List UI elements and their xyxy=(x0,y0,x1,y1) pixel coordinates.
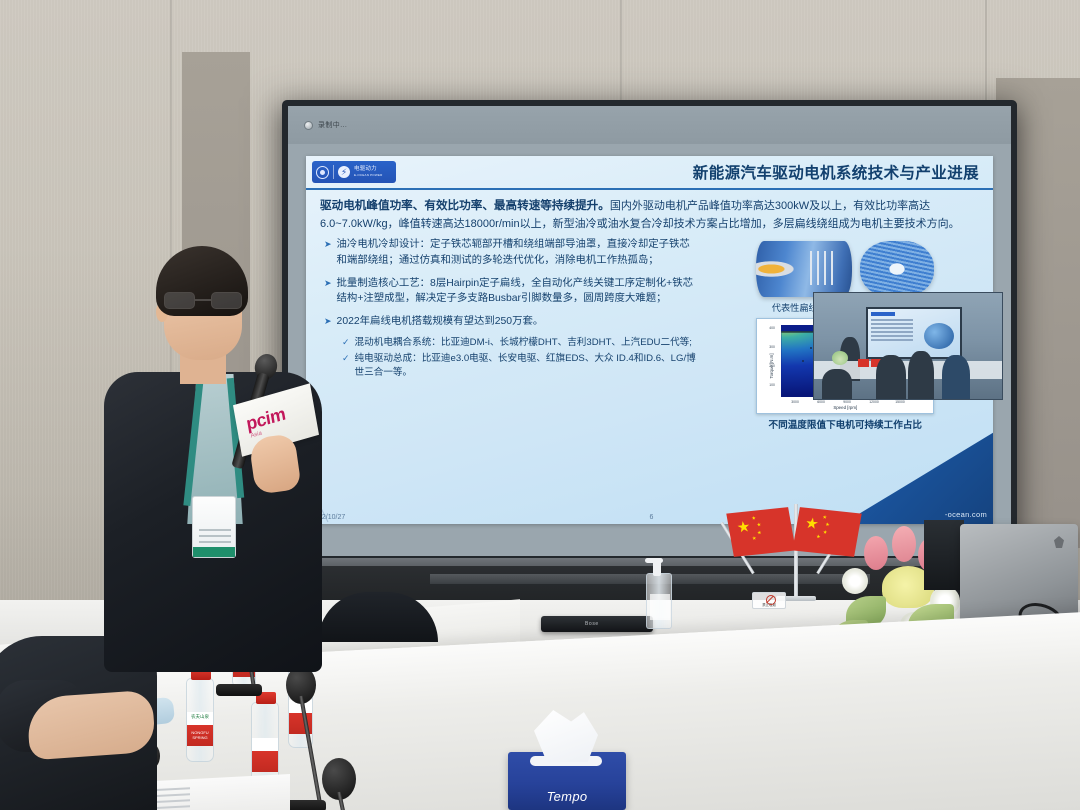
flag-star-icon: ★ xyxy=(757,531,762,536)
slide-lead-paragraph: 驱动电机峰值功率、有效比功率、最高转速等持续提升。国内外驱动电机产品峰值功率高达… xyxy=(320,197,979,232)
no-smoking-sign: 禁止吸烟 xyxy=(752,592,786,609)
institute-seal-logo xyxy=(316,166,329,179)
check-icon: ✓ xyxy=(342,336,350,350)
chart-x-tick: 15000 xyxy=(895,400,904,404)
chart-x-axis-label: Speed [rpm] xyxy=(757,405,933,410)
soundbar-brand-label: Bose xyxy=(585,621,599,627)
chart-y-tick: 200 xyxy=(769,364,775,368)
bottle-label: 农夫山泉 NONGFU SPRING xyxy=(187,712,213,746)
oil-cooled-motor-cutaway-image xyxy=(756,241,852,297)
hairpin-winding-image xyxy=(860,241,934,297)
sub-bullet-list: ✓ 混动机电耦合系统：比亚迪DM-i、长城柠檬DHT、吉利3DHT、上汽EDU二… xyxy=(342,336,698,380)
bullet-item: ➤ 油冷电机冷却设计：定子铁芯轭部开槽和绕组端部导油罩，直接冷却定子铁芯和端部绕… xyxy=(324,237,698,268)
presenter: pcim Asia xyxy=(96,246,326,666)
flag-left: ★ ★ ★ ★ ★ xyxy=(726,507,795,557)
bullet-text: 批量制造核心工艺：8层Hairpin定子扁线，全自动化产线关键工序定制化+铁芯结… xyxy=(337,276,698,307)
picture-in-picture-room-feed[interactable] xyxy=(813,292,1003,400)
side-monitor xyxy=(924,520,964,590)
sub-bullet-text: 混动机电耦合系统：比亚迪DM-i、长城柠檬DHT、吉利3DHT、上汽EDU二代等… xyxy=(355,336,692,350)
pip-flag xyxy=(858,359,869,367)
lightning-bolt-icon: ⚡ xyxy=(338,166,350,178)
pip-slide-header xyxy=(871,312,895,316)
sub-bullet-text: 纯电驱动总成：比亚迪e3.0电驱、长安电驱、红旗EDS、大众 ID.4和ID.6… xyxy=(355,352,698,380)
display-os-bar: 录制中... xyxy=(288,106,1011,144)
bose-soundbar: Bose xyxy=(541,616,653,632)
flag-star-icon: ★ xyxy=(756,523,761,528)
sanitizer-pump xyxy=(653,558,661,576)
tissue-box[interactable]: Tempo xyxy=(508,752,626,810)
interactive-display[interactable]: 录制中... ⚡ 电驱动力 E-OCEAN POWER 新能源汽车驱动电机系统技… xyxy=(282,100,1017,562)
flag-star-icon: ★ xyxy=(751,517,756,522)
chart-x-tick: 9000 xyxy=(843,400,851,404)
badge-footer-bar xyxy=(193,547,235,557)
slide-page-number: 6 xyxy=(650,514,654,521)
slide-bullets-column: ➤ 油冷电机冷却设计：定子铁芯轭部开槽和绕组端部导油罩，直接冷却定子铁芯和端部绕… xyxy=(306,237,698,431)
bottle-label xyxy=(252,738,278,772)
chart-x-tick: 3000 xyxy=(791,400,799,404)
pip-slide-image xyxy=(924,323,954,349)
logo-divider xyxy=(333,165,334,179)
organization-logos: ⚡ 电驱动力 E-OCEAN POWER xyxy=(312,161,396,183)
laptop-logo-icon xyxy=(1054,536,1064,548)
slide-title: 新能源汽车驱动电机系统技术与产业进展 xyxy=(693,161,979,183)
tulip-bloom xyxy=(864,536,888,570)
chart-x-tick: 12000 xyxy=(869,400,878,404)
sub-bullet-item: ✓ 纯电驱动总成：比亚迪e3.0电驱、长安电驱、红旗EDS、大众 ID.4和ID… xyxy=(342,352,698,380)
mic-base xyxy=(216,684,262,696)
chart-y-tick: 400 xyxy=(769,326,775,330)
chart-y-tick: 300 xyxy=(769,345,775,349)
pip-attendee xyxy=(822,369,852,400)
mic-flag-brand-label: pcim xyxy=(245,403,287,435)
flag-star-icon: ★ xyxy=(752,537,757,542)
bullet-text: 油冷电机冷却设计：定子铁芯轭部开槽和绕组端部导油罩，直接冷却定子铁芯和端部绕组；… xyxy=(337,237,698,268)
pip-attendee xyxy=(876,355,906,400)
presenter-badge xyxy=(192,496,236,558)
check-icon: ✓ xyxy=(342,352,350,380)
chart-x-tick: 6000 xyxy=(817,400,825,404)
sub-bullet-item: ✓ 混动机电耦合系统：比亚迪DM-i、长城柠檬DHT、吉利3DHT、上汽EDU二… xyxy=(342,336,698,350)
display-screen[interactable]: 录制中... ⚡ 电驱动力 E-OCEAN POWER 新能源汽车驱动电机系统技… xyxy=(288,106,1011,556)
water-bottle[interactable]: 农夫山泉 NONGFU SPRING xyxy=(186,678,214,762)
motor-image-row xyxy=(698,237,993,297)
bottle-brand-cn: 农夫山泉 xyxy=(191,714,209,719)
tissue-brand-label: Tempo xyxy=(508,789,626,804)
company-name-cn: 电驱动力 xyxy=(354,166,377,172)
pip-room-view xyxy=(814,293,1002,399)
hand-sanitizer-bottle[interactable] xyxy=(646,573,672,629)
bottle-brand-en: NONGFU SPRING xyxy=(187,730,213,740)
daisy-bloom xyxy=(842,568,868,594)
record-status-label: 录制中... xyxy=(318,120,347,130)
flag-star-icon: ★ xyxy=(736,519,752,535)
bullet-item: ➤ 2022年扁线电机搭载规模有望达到250万套。 xyxy=(324,314,698,330)
bullet-text: 2022年扁线电机搭载规模有望达到250万套。 xyxy=(337,314,544,330)
sanitizer-label xyxy=(650,594,670,620)
pip-slide-text xyxy=(871,319,913,321)
eyeglasses-icon xyxy=(164,292,242,309)
pip-attendee xyxy=(908,351,934,400)
conference-room-scene: 录制中... ⚡ 电驱动力 E-OCEAN POWER 新能源汽车驱动电机系统技… xyxy=(0,0,1080,810)
bullet-item: ➤ 批量制造核心工艺：8层Hairpin定子扁线，全自动化产线关键工序定制化+铁… xyxy=(324,276,698,307)
tulip-bloom xyxy=(892,526,916,562)
slide-header: ⚡ 电驱动力 E-OCEAN POWER 新能源汽车驱动电机系统技术与产业进展 xyxy=(306,156,993,190)
company-logo-text: 电驱动力 E-OCEAN POWER xyxy=(354,166,382,178)
pip-inner-display xyxy=(866,307,962,359)
lead-bold-text: 驱动电机峰值功率、有效比功率、最高转速等持续提升。 xyxy=(320,199,610,212)
chart-caption: 不同温度限值下电机可持续工作占比 xyxy=(698,417,993,431)
chart-y-tick: 100 xyxy=(769,383,775,387)
pip-flower-arrangement xyxy=(832,351,848,365)
company-name-en: E-OCEAN POWER xyxy=(354,173,382,177)
record-icon xyxy=(304,121,313,130)
pip-attendee xyxy=(942,355,970,400)
